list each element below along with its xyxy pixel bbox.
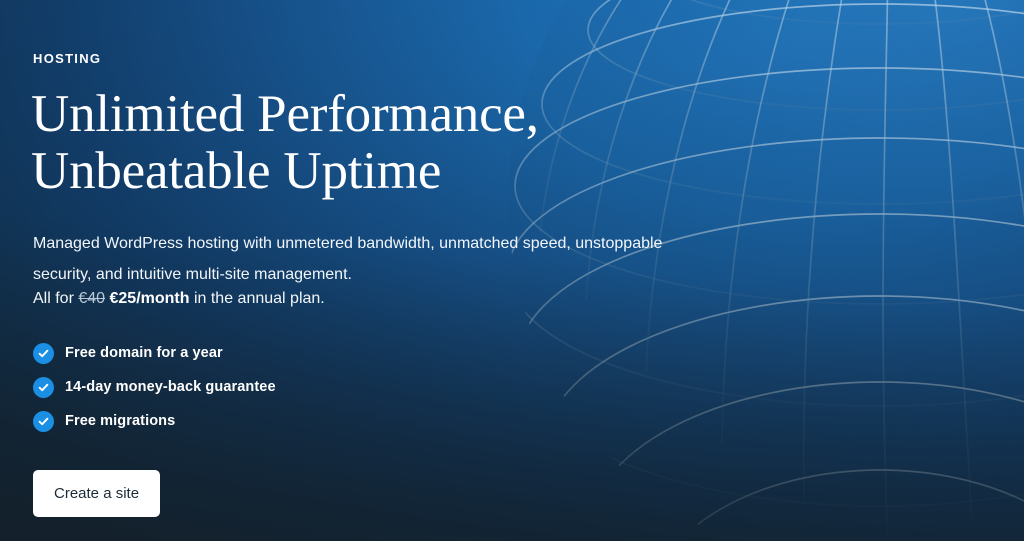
check-circle-icon: [33, 343, 54, 364]
feature-label: 14-day money-back guarantee: [65, 379, 276, 395]
hero-eyebrow: HOSTING: [33, 51, 101, 66]
price-line: All for €40 €25/month in the annual plan…: [33, 287, 325, 311]
price-suffix: in the annual plan.: [190, 290, 325, 307]
feature-list: Free domain for a year 14-day money-back…: [33, 336, 276, 438]
check-circle-icon: [33, 411, 54, 432]
price-discounted: €25/month: [110, 290, 190, 307]
feature-label: Free migrations: [65, 413, 175, 429]
list-item: Free migrations: [33, 404, 276, 438]
hero-banner: HOSTING Unlimited Performance, Unbeatabl…: [0, 0, 1024, 541]
hero-content: HOSTING Unlimited Performance, Unbeatabl…: [33, 0, 733, 541]
feature-label: Free domain for a year: [65, 345, 223, 361]
price-prefix: All for: [33, 290, 78, 307]
page-title: Unlimited Performance, Unbeatable Uptime: [31, 86, 539, 200]
price-original: €40: [78, 290, 105, 307]
list-item: 14-day money-back guarantee: [33, 370, 276, 404]
list-item: Free domain for a year: [33, 336, 276, 370]
hero-description: Managed WordPress hosting with unmetered…: [33, 228, 681, 290]
create-a-site-button[interactable]: Create a site: [33, 470, 160, 517]
check-circle-icon: [33, 377, 54, 398]
